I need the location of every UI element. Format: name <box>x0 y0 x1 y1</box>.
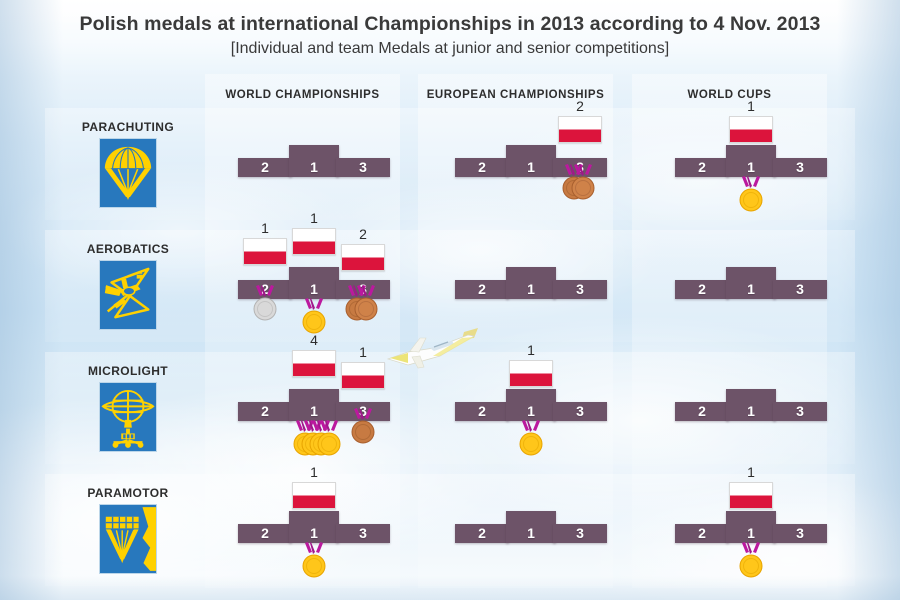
medal-count: 1 <box>509 343 553 358</box>
podium-place-label: 2 <box>675 159 729 175</box>
sport-microlight: MICROLIGHT <box>48 364 208 452</box>
podium-step-2: 2 <box>455 280 509 299</box>
polish-flag-icon <box>243 238 287 265</box>
podium-step-1: 1 <box>506 389 556 421</box>
page-subtitle: [Individual and team Medals at junior an… <box>0 38 900 60</box>
cell-paramotor-european-championships: 2 1 3 <box>455 511 605 543</box>
podium: 2 1 3 <box>675 267 825 299</box>
podium-place-label: 1 <box>726 403 776 419</box>
bronze-medal-icon <box>353 285 379 325</box>
medal-count-flag-place-3: 2 <box>558 99 602 143</box>
podium-step-3: 3 <box>773 524 827 543</box>
podium: 2 1 3 <box>455 389 605 421</box>
podium-step-1: 1 <box>506 145 556 177</box>
polish-flag-icon <box>341 244 385 271</box>
podium-step-1: 1 <box>506 511 556 543</box>
cell-microlight-european-championships: 2 1 3 1 <box>455 389 605 421</box>
podium-step-3: 3 <box>773 158 827 177</box>
microlight-trike-icon <box>99 382 157 452</box>
polish-flag-icon <box>729 116 773 143</box>
medal-count-flag-place-1: 1 <box>729 99 773 143</box>
podium-step-1: 1 <box>726 267 776 299</box>
polish-flag-icon <box>292 482 336 509</box>
cell-microlight-world-championships: 2 1 3 4 1 <box>238 389 388 421</box>
medal-count-flag-place-2: 1 <box>243 221 287 265</box>
podium: 2 1 3 <box>455 267 605 299</box>
sport-label-parachuting: PARACHUTING <box>48 120 208 134</box>
column-header-world-championships: WORLD CHAMPIONSHIPS <box>205 80 400 110</box>
podium-place-label: 3 <box>553 403 607 419</box>
podium-step-2: 2 <box>455 402 509 421</box>
medal-count: 1 <box>292 465 336 480</box>
medal-count-flag-place-1: 1 <box>509 343 553 387</box>
sport-aerobatics: AEROBATICS <box>48 242 208 330</box>
paramotor-icon <box>99 504 157 574</box>
podium-place-label: 3 <box>553 525 607 541</box>
cell-parachuting-world-cups: 2 1 3 1 <box>675 145 825 177</box>
podium: 2 1 3 <box>238 145 388 177</box>
podium-step-2: 2 <box>455 524 509 543</box>
bronze-medal-icon <box>570 164 596 204</box>
medal-count: 1 <box>243 221 287 236</box>
podium-place-label: 2 <box>675 403 729 419</box>
podium-step-3: 3 <box>553 280 607 299</box>
glider-plane-illustration <box>378 326 482 372</box>
podium-place-label: 2 <box>455 159 509 175</box>
podium-place-label: 1 <box>289 403 339 419</box>
podium-place-label: 1 <box>726 159 776 175</box>
podium-place-label: 1 <box>506 281 556 297</box>
polish-flag-icon <box>509 360 553 387</box>
podium-step-1: 1 <box>726 389 776 421</box>
medal-count-flag-place-1: 1 <box>292 211 336 255</box>
page-title: Polish medals at international Champions… <box>0 12 900 36</box>
gold-medal-icon <box>738 542 764 582</box>
medal-group-bronze-place-3 <box>344 285 384 330</box>
header: Polish medals at international Champions… <box>0 12 900 60</box>
podium-step-2: 2 <box>238 524 292 543</box>
podium-place-label: 3 <box>773 159 827 175</box>
podium-place-label: 2 <box>455 281 509 297</box>
cell-paramotor-world-championships: 2 1 3 1 <box>238 511 388 543</box>
podium: 2 1 3 <box>238 511 388 543</box>
cell-aerobatics-world-championships: 2 1 3 1 1 2 <box>238 267 388 299</box>
medal-group-gold-place-1 <box>301 542 327 586</box>
medal-count: 1 <box>729 99 773 114</box>
cell-parachuting-world-championships: 2 1 3 <box>238 145 388 177</box>
gold-medal-icon <box>738 176 764 216</box>
podium-place-label: 1 <box>289 159 339 175</box>
podium: 2 1 3 <box>675 145 825 177</box>
sport-label-aerobatics: AEROBATICS <box>48 242 208 256</box>
gold-medal-icon <box>301 542 327 582</box>
podium-step-3: 3 <box>553 402 607 421</box>
podium-step-3: 3 <box>336 158 390 177</box>
medal-count-flag-place-1: 1 <box>292 465 336 509</box>
sport-paramotor: PARAMOTOR <box>48 486 208 574</box>
cell-microlight-world-cups: 2 1 3 <box>675 389 825 421</box>
podium-place-label: 2 <box>455 403 509 419</box>
medal-group-gold-place-1 <box>738 176 764 220</box>
podium-place-label: 1 <box>506 159 556 175</box>
medal-count: 1 <box>292 211 336 226</box>
podium-step-2: 2 <box>455 158 509 177</box>
bronze-medal-icon <box>350 408 376 448</box>
podium-step-1: 1 <box>726 511 776 543</box>
podium-step-2: 2 <box>675 158 729 177</box>
sport-label-paramotor: PARAMOTOR <box>48 486 208 500</box>
polish-flag-icon <box>729 482 773 509</box>
podium-step-3: 3 <box>553 524 607 543</box>
medal-count-flag-place-3: 2 <box>341 227 385 271</box>
podium-place-label: 3 <box>336 159 390 175</box>
medal-group-silver-place-2 <box>252 285 278 329</box>
parachute-icon <box>99 138 157 208</box>
medal-group-bronze-place-3 <box>561 164 601 209</box>
podium-step-3: 3 <box>336 524 390 543</box>
podium-place-label: 2 <box>675 525 729 541</box>
medal-group-gold-place-1 <box>518 420 544 464</box>
podium-place-label: 2 <box>455 525 509 541</box>
podium-place-label: 2 <box>238 525 292 541</box>
cell-parachuting-european-championships: 2 1 3 2 <box>455 145 605 177</box>
podium: 2 1 3 <box>455 511 605 543</box>
medal-count: 2 <box>341 227 385 242</box>
medal-count: 2 <box>558 99 602 114</box>
podium-place-label: 2 <box>675 281 729 297</box>
podium-place-label: 1 <box>506 525 556 541</box>
medal-count-flag-place-1: 1 <box>729 465 773 509</box>
podium-place-label: 3 <box>773 403 827 419</box>
podium-step-1: 1 <box>726 145 776 177</box>
podium-step-2: 2 <box>675 524 729 543</box>
medal-group-gold-place-1 <box>292 420 342 464</box>
sport-parachuting: PARACHUTING <box>48 120 208 208</box>
sport-label-microlight: MICROLIGHT <box>48 364 208 378</box>
podium-place-label: 1 <box>726 281 776 297</box>
podium-place-label: 3 <box>773 525 827 541</box>
podium-place-label: 1 <box>726 525 776 541</box>
podium: 2 1 3 <box>675 511 825 543</box>
medal-group-bronze-place-3 <box>350 408 376 452</box>
cell-paramotor-world-cups: 2 1 3 1 <box>675 511 825 543</box>
aerobatics-plane-icon <box>99 260 157 330</box>
medal-count: 4 <box>292 333 336 348</box>
polish-flag-icon <box>292 350 336 377</box>
podium-place-label: 1 <box>289 525 339 541</box>
medal-count: 1 <box>729 465 773 480</box>
podium-step-2: 2 <box>238 402 292 421</box>
cell-aerobatics-world-cups: 2 1 3 <box>675 267 825 299</box>
podium-step-1: 1 <box>289 267 339 299</box>
medal-count-flag-place-1: 4 <box>292 333 336 377</box>
podium-step-1: 1 <box>289 389 339 421</box>
cell-aerobatics-european-championships: 2 1 3 <box>455 267 605 299</box>
medal-group-gold-place-1 <box>738 542 764 586</box>
podium-place-label: 2 <box>238 159 292 175</box>
podium-place-label: 1 <box>289 281 339 297</box>
podium-place-label: 1 <box>506 403 556 419</box>
silver-medal-icon <box>252 285 278 325</box>
podium-place-label: 3 <box>336 525 390 541</box>
gold-medal-icon <box>316 420 342 460</box>
podium-step-1: 1 <box>289 511 339 543</box>
podium-step-1: 1 <box>289 145 339 177</box>
podium-step-1: 1 <box>506 267 556 299</box>
podium-step-2: 2 <box>238 158 292 177</box>
podium-step-2: 2 <box>675 280 729 299</box>
podium-place-label: 3 <box>553 281 607 297</box>
polish-flag-icon <box>558 116 602 143</box>
podium-step-3: 3 <box>773 280 827 299</box>
podium-place-label: 3 <box>773 281 827 297</box>
polish-flag-icon <box>292 228 336 255</box>
podium-place-label: 2 <box>238 403 292 419</box>
podium-step-3: 3 <box>773 402 827 421</box>
podium: 2 1 3 <box>675 389 825 421</box>
gold-medal-icon <box>518 420 544 460</box>
podium-step-2: 2 <box>675 402 729 421</box>
